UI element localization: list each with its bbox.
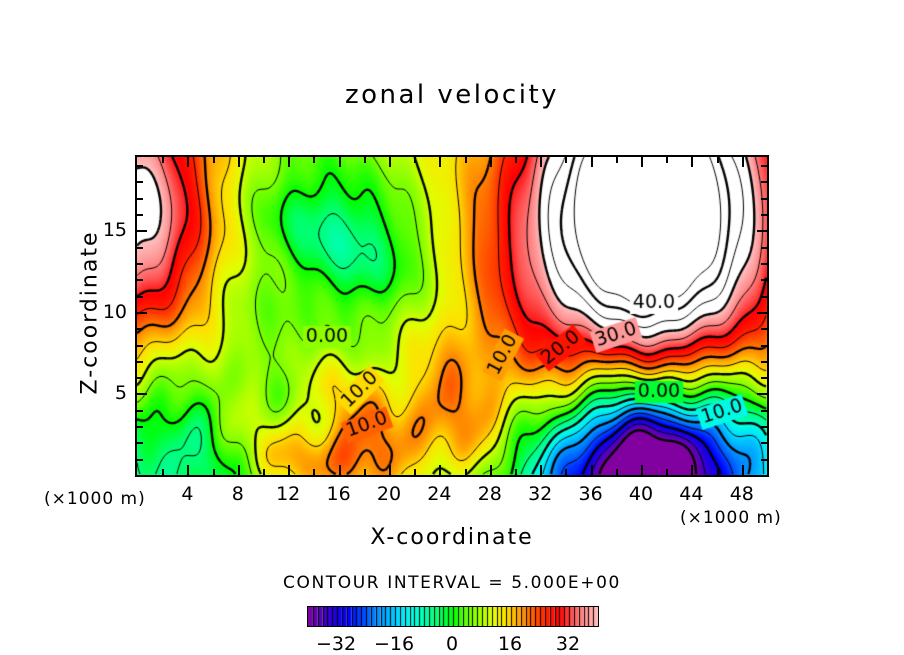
x-tick [339,157,341,167]
x-tick [540,465,542,475]
x-tick [691,157,693,167]
y-tick [137,312,147,314]
y-tick [761,328,767,330]
x-tick-label: 44 [679,483,703,505]
x-tick-label: 4 [181,483,193,505]
x-tick [439,157,441,167]
x-tick [339,465,341,475]
x-tick [389,465,391,475]
x-tick-label: 24 [427,483,451,505]
x-tick [364,469,366,475]
x-tick [717,469,719,475]
colorbar-gradient [308,607,598,626]
x-tick-label: 36 [579,483,603,505]
y-tick-label: 15 [87,219,127,241]
x-tick [364,157,366,163]
y-tick [757,393,767,395]
y-tick [761,377,767,379]
y-tick [137,426,143,428]
x-tick [540,157,542,167]
x-tick [238,465,240,475]
y-tick [761,263,767,265]
x-tick [263,157,265,163]
page-title: zonal velocity [0,80,904,110]
y-tick [761,279,767,281]
colorbar [307,606,599,627]
x-units-annotation-right: (×1000 m) [680,508,782,528]
y-tick-label: 5 [87,382,127,404]
x-tick [313,157,315,163]
x-tick-label: 8 [232,483,244,505]
x-tick [616,469,618,475]
y-tick [137,361,143,363]
x-tick [213,157,215,163]
x-tick-label: 28 [478,483,502,505]
x-tick-label: 32 [528,483,552,505]
x-tick [742,157,744,167]
x-tick [389,157,391,167]
y-tick [137,410,143,412]
colorbar-tick-label: 16 [498,633,522,655]
x-tick [717,157,719,163]
x-tick [565,157,567,163]
x-tick [490,157,492,167]
y-tick [761,442,767,444]
y-tick [137,345,143,347]
y-tick [137,230,147,232]
x-tick [439,465,441,475]
y-tick [137,296,143,298]
x-units-annotation-left: (×1000 m) [44,489,146,509]
x-tick [288,157,290,167]
y-tick [761,459,767,461]
x-tick [313,469,315,475]
y-tick [761,247,767,249]
plot-area [135,155,769,477]
x-tick-label: 16 [327,483,351,505]
x-tick [288,465,290,475]
x-tick [641,157,643,167]
x-tick [213,469,215,475]
x-tick [641,465,643,475]
x-tick [187,465,189,475]
x-tick [162,157,164,163]
y-tick [137,393,147,395]
y-tick [761,181,767,183]
y-tick [757,312,767,314]
y-tick [137,279,143,281]
x-tick [465,469,467,475]
y-tick [137,442,143,444]
x-tick-label: 12 [276,483,300,505]
y-tick [761,361,767,363]
y-tick [761,426,767,428]
colorbar-caption: CONTOUR INTERVAL = 5.000E+00 [0,573,904,593]
y-tick [761,296,767,298]
x-tick [465,157,467,163]
y-tick [761,410,767,412]
y-tick [761,198,767,200]
x-tick-label: 40 [629,483,653,505]
x-tick [565,469,567,475]
x-axis-title: X-coordinate [0,525,904,550]
x-tick [515,469,517,475]
y-tick [757,230,767,232]
colorbar-tick-label: −16 [374,633,414,655]
x-tick [263,469,265,475]
y-tick [761,214,767,216]
x-tick [666,469,668,475]
x-tick-label: 48 [730,483,754,505]
colorbar-tick-label: 32 [556,633,580,655]
y-tick [137,263,143,265]
x-tick [591,157,593,167]
x-tick [515,157,517,163]
x-tick [742,465,744,475]
y-tick [137,377,143,379]
x-tick [238,157,240,167]
x-tick [414,157,416,163]
y-tick [137,214,143,216]
x-tick [490,465,492,475]
colorbar-tick-label: −32 [316,633,356,655]
x-tick [414,469,416,475]
x-tick [616,157,618,163]
y-tick [137,181,143,183]
y-tick [137,247,143,249]
y-tick [137,198,143,200]
x-tick-label: 20 [377,483,401,505]
x-tick [162,469,164,475]
y-tick [137,165,143,167]
contour-plot-figure: zonal velocity Z-coordinate X-coordinate… [0,0,904,654]
x-tick [187,157,189,167]
y-tick-label: 10 [87,301,127,323]
colorbar-tick-label: 0 [446,633,458,655]
y-tick [137,459,143,461]
y-tick [761,165,767,167]
y-tick [761,345,767,347]
y-tick [137,328,143,330]
x-tick [666,157,668,163]
x-tick [591,465,593,475]
contour-field [137,157,767,475]
x-tick [691,465,693,475]
